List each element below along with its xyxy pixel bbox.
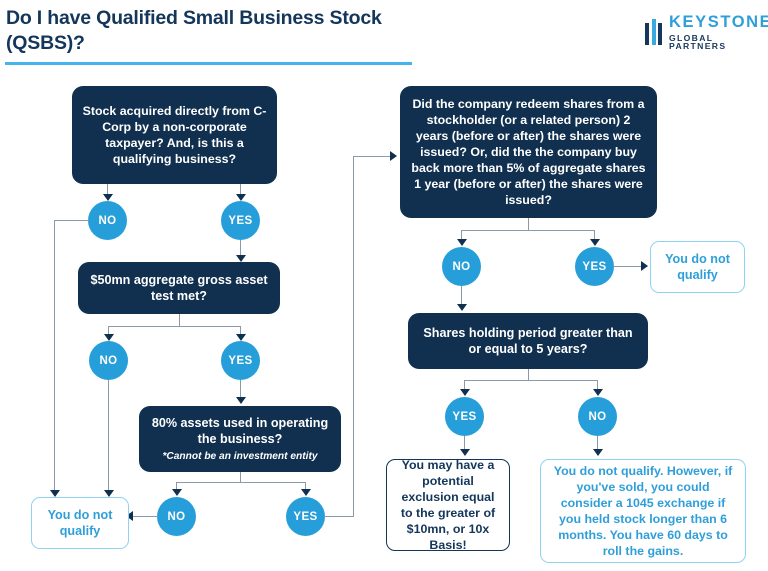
connector-q2no-down xyxy=(108,380,109,492)
arrowhead-q3-yes xyxy=(301,489,311,496)
q3-main-text: 80% assets used in operating the busines… xyxy=(149,415,331,447)
arrowhead-q1-no xyxy=(103,194,113,201)
decision-q2-no: NO xyxy=(89,341,128,380)
arrowhead-q4yes-outcome xyxy=(641,261,648,271)
question-box-stock-acquired: Stock acquired directly from C-Corp by a… xyxy=(72,86,277,184)
arrowhead-q4-yes xyxy=(590,239,600,246)
logo-subtitle: GLOBAL PARTNERS xyxy=(669,34,768,51)
decision-q1-no: NO xyxy=(88,201,127,240)
flowchart-canvas: Do I have Qualified Small Business Stock… xyxy=(0,0,768,571)
question-box-asset-test: $50mn aggregate gross asset test met? xyxy=(78,262,280,314)
decision-q5-yes: YES xyxy=(445,397,484,436)
decision-q1-yes: YES xyxy=(221,201,260,240)
connector-q3-bus xyxy=(176,482,305,483)
decision-q4-yes: YES xyxy=(575,247,614,286)
logo-bars-icon xyxy=(645,19,662,45)
logo-name: KEYSTONE xyxy=(669,14,768,31)
arrowhead-q2-yes xyxy=(236,334,246,341)
decision-q4-no: NO xyxy=(442,247,481,286)
arrowhead-q2-no xyxy=(104,334,114,341)
connector-q5-bus xyxy=(464,380,597,381)
title-divider xyxy=(5,62,412,65)
page-title: Do I have Qualified Small Business Stock… xyxy=(6,6,436,56)
arrowhead-q2-in xyxy=(236,255,246,262)
decision-q3-yes: YES xyxy=(286,497,325,536)
decision-q3-no: NO xyxy=(157,497,196,536)
outcome-box-not-qualify-left: You do not qualify xyxy=(31,497,129,549)
arrowhead-success-in xyxy=(460,449,470,456)
outcome-box-potential-exclusion: You may have a potential exclusion equal… xyxy=(386,459,510,551)
connector-q2-bus xyxy=(108,326,241,327)
decision-q2-yes: YES xyxy=(221,341,260,380)
question-box-holding-period: Shares holding period greater than or eq… xyxy=(408,313,648,369)
question-box-redeem-shares: Did the company redeem shares from a sto… xyxy=(400,86,657,218)
arrowhead-q1-yes xyxy=(236,194,246,201)
question-box-80pct-assets: 80% assets used in operating the busines… xyxy=(139,406,341,472)
outcome-box-1045-rollover: You do not qualify. However, if you've s… xyxy=(540,459,746,563)
connector-q4-bus xyxy=(461,230,595,231)
connector-q3no-left xyxy=(133,516,158,517)
connector-q1no-down xyxy=(54,220,55,492)
keystone-logo: KEYSTONE GLOBAL PARTNERS xyxy=(645,14,768,51)
arrowhead-q5-yes xyxy=(460,389,470,396)
connector-q3yes-to-q4 xyxy=(353,156,393,157)
connector-q1no-left xyxy=(54,220,89,221)
arrowhead-q3-no xyxy=(172,489,182,496)
arrowhead-q5-in xyxy=(457,304,467,311)
connector-q3yes-right xyxy=(324,516,354,517)
arrowhead-q5-no xyxy=(593,389,603,396)
outcome-box-not-qualify-right: You do not qualify xyxy=(650,241,745,293)
arrowhead-q2no-outcome xyxy=(104,490,114,497)
arrowhead-q4-no xyxy=(457,239,467,246)
arrowhead-q1no-outcome xyxy=(50,490,60,497)
q3-footnote: *Cannot be an investment entity xyxy=(162,450,317,463)
arrowhead-q4-in xyxy=(390,151,397,161)
arrowhead-rollover-in xyxy=(593,449,603,456)
connector-q3yes-up xyxy=(353,156,354,517)
decision-q5-no: NO xyxy=(578,397,617,436)
arrowhead-q3-in xyxy=(236,397,246,404)
